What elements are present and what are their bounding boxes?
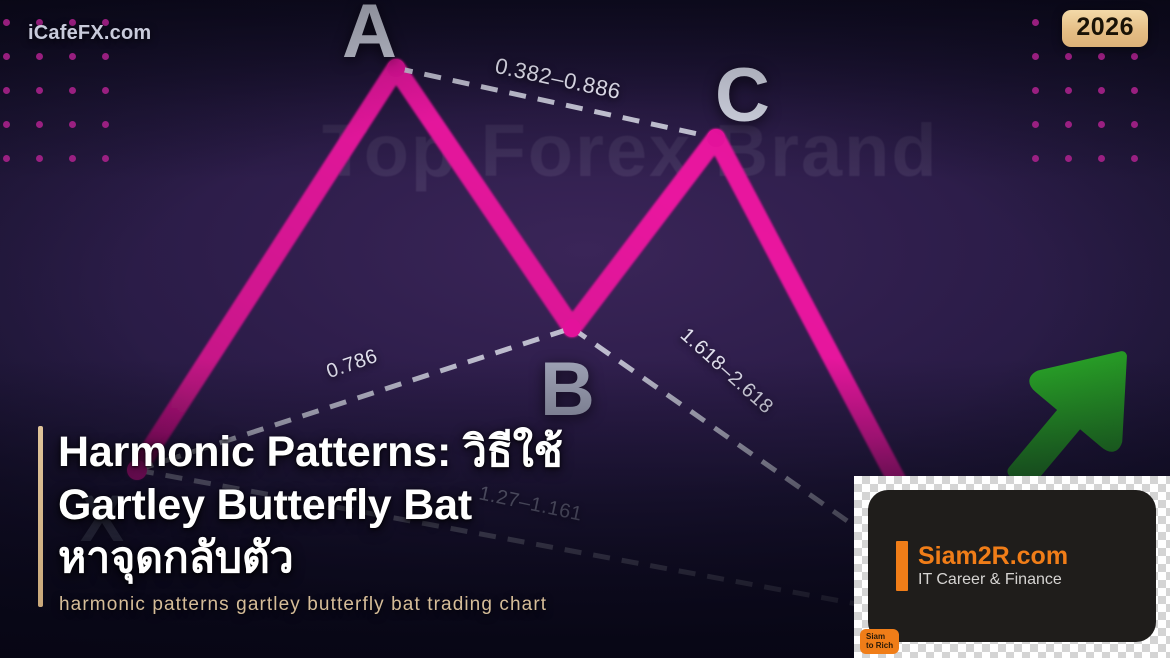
- title-block: Harmonic Patterns: วิธีใช้ Gartley Butte…: [38, 426, 678, 616]
- keyword-caption: harmonic patterns gartley butterfly bat …: [59, 594, 678, 616]
- logo-accent-bar-icon: [896, 541, 908, 591]
- logo-tagline: IT Career & Finance: [918, 571, 1068, 589]
- logo-corner-badge: Siam to Rich: [860, 629, 899, 654]
- year-badge: 2026: [1062, 10, 1148, 47]
- page-title: Harmonic Patterns: วิธีใช้ Gartley Butte…: [58, 426, 678, 585]
- partner-logo-inner: Siam2R.com IT Career & Finance Siam to R…: [868, 490, 1156, 642]
- page-title-line-1: Harmonic Patterns: วิธีใช้: [58, 426, 678, 479]
- logo-name: Siam2R.com: [918, 543, 1068, 569]
- title-accent-bar: [38, 426, 43, 607]
- page-title-line-2: Gartley Butterfly Bat: [58, 479, 678, 532]
- partner-logo-card: Siam2R.com IT Career & Finance Siam to R…: [854, 476, 1170, 658]
- page-title-line-3: หาจุดกลับตัว: [58, 532, 678, 585]
- thumbnail-canvas: Top Forex Brand: [0, 0, 1170, 658]
- site-brand-label: iCafeFX.com: [28, 22, 151, 45]
